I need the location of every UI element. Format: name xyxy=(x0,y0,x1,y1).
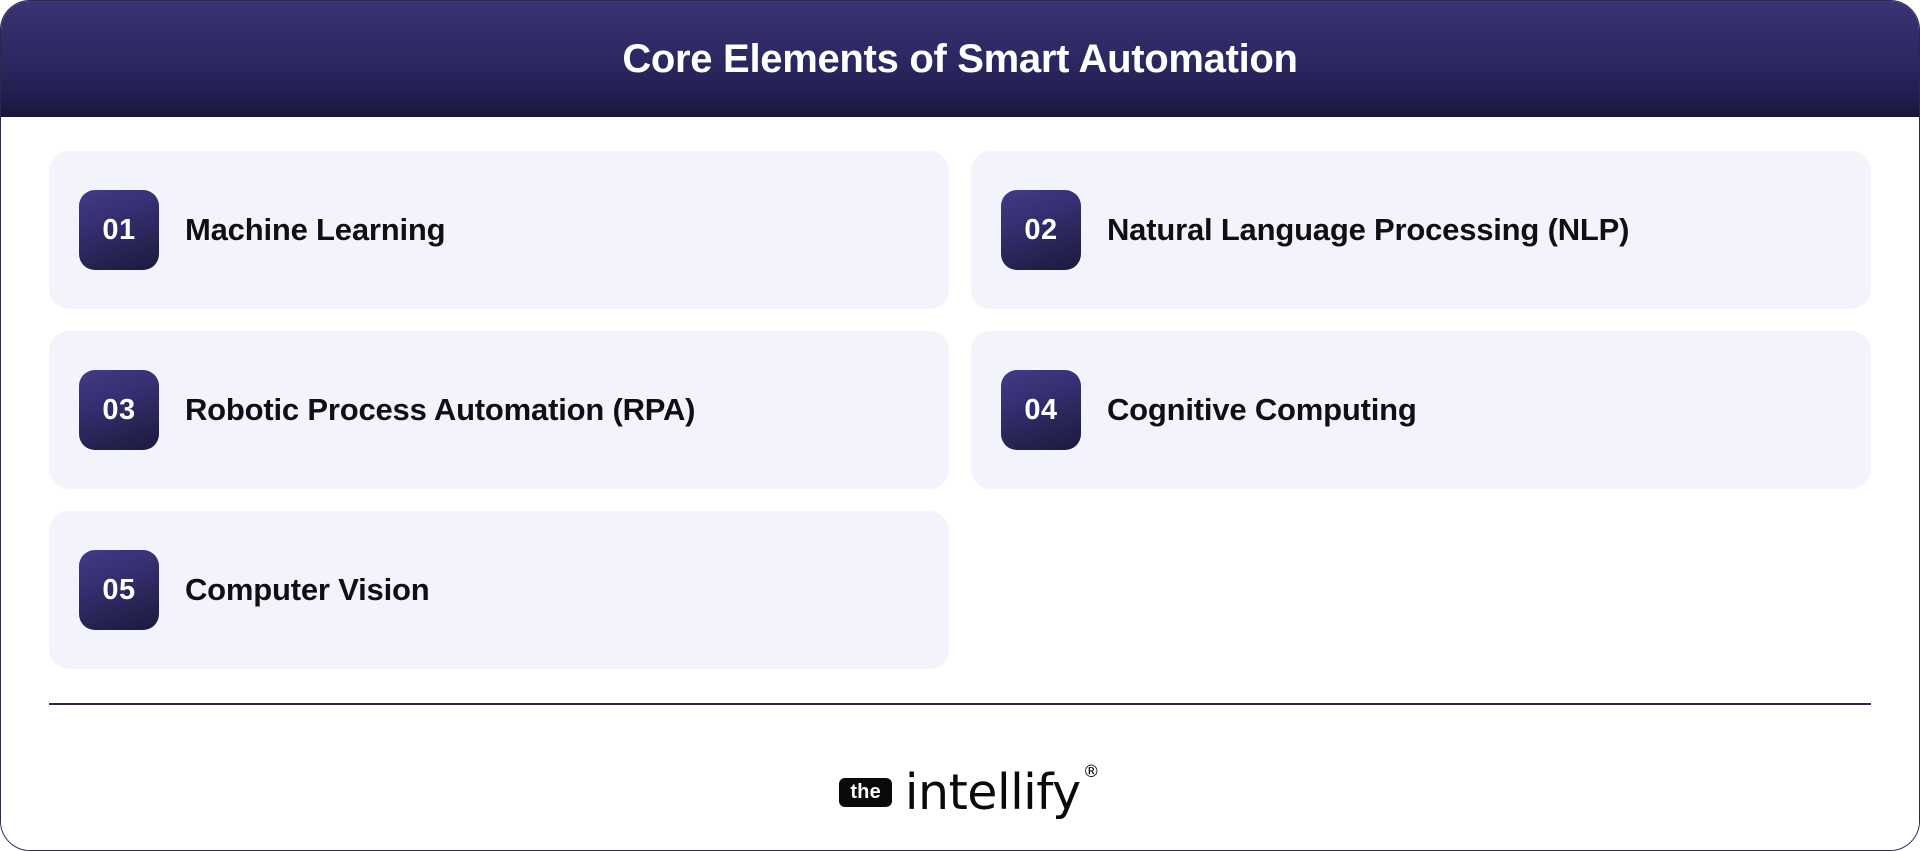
footer-divider xyxy=(49,703,1871,705)
brand-logo: the intellify ® xyxy=(839,768,1080,817)
number-badge-03: 03 xyxy=(79,370,159,450)
logo-word-text: intellify xyxy=(905,764,1081,821)
page-title: Core Elements of Smart Automation xyxy=(622,37,1297,81)
badge-number-label: 02 xyxy=(1024,216,1057,245)
logo-the-badge: the xyxy=(839,778,892,807)
badge-number-label: 01 xyxy=(102,216,135,245)
badge-number-label: 03 xyxy=(102,396,135,425)
element-card-01[interactable]: 01 Machine Learning xyxy=(49,151,949,309)
number-badge-01: 01 xyxy=(79,190,159,270)
element-card-02[interactable]: 02 Natural Language Processing (NLP) xyxy=(971,151,1871,309)
element-title-04: Cognitive Computing xyxy=(1107,392,1417,428)
logo-wordmark: intellify ® xyxy=(905,768,1081,817)
element-title-05: Computer Vision xyxy=(185,572,429,608)
element-card-05[interactable]: 05 Computer Vision xyxy=(49,511,949,669)
badge-number-label: 04 xyxy=(1024,396,1057,425)
element-card-04[interactable]: 04 Cognitive Computing xyxy=(971,331,1871,489)
header-banner: Core Elements of Smart Automation xyxy=(1,1,1919,117)
number-badge-05: 05 xyxy=(79,550,159,630)
registered-trademark-icon: ® xyxy=(1083,764,1100,781)
badge-number-label: 05 xyxy=(102,576,135,605)
number-badge-02: 02 xyxy=(1001,190,1081,270)
content-area: 01 Machine Learning 02 Natural Language … xyxy=(1,117,1919,735)
number-badge-04: 04 xyxy=(1001,370,1081,450)
element-card-grid: 01 Machine Learning 02 Natural Language … xyxy=(49,151,1871,669)
element-card-03[interactable]: 03 Robotic Process Automation (RPA) xyxy=(49,331,949,489)
infographic-frame: Core Elements of Smart Automation 01 Mac… xyxy=(0,0,1920,851)
element-title-03: Robotic Process Automation (RPA) xyxy=(185,392,695,428)
infographic-page: Core Elements of Smart Automation 01 Mac… xyxy=(0,0,1920,851)
footer-bar: the intellify ® xyxy=(1,735,1919,850)
element-title-01: Machine Learning xyxy=(185,212,445,248)
element-title-02: Natural Language Processing (NLP) xyxy=(1107,212,1629,248)
